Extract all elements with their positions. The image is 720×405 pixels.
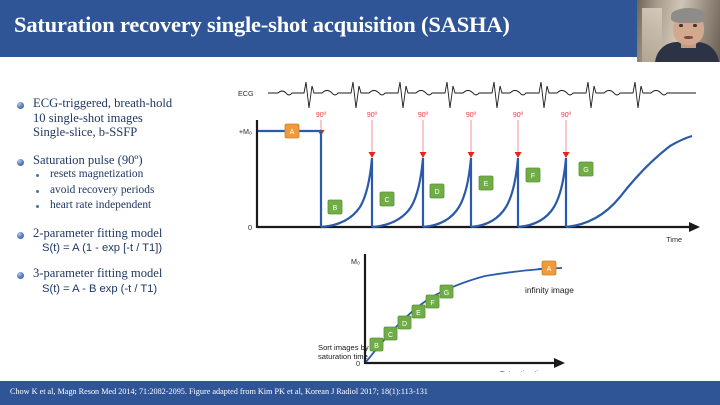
bullet-line: 10 single-shot images	[33, 111, 172, 126]
webcam-person-hair	[671, 8, 706, 23]
bottom-point-label-E: E	[416, 310, 421, 317]
ecg-label: ECG	[238, 89, 254, 98]
webcam-person-eye-right	[693, 24, 697, 27]
pulse-label-5: 90º	[513, 112, 524, 119]
bullet-item-two-parameter-model: 2-parameter fitting model	[12, 226, 227, 241]
main-y-top-label: +M₀	[239, 127, 252, 136]
pulse-label-3: 90º	[418, 112, 429, 119]
presenter-webcam-thumbnail[interactable]	[637, 0, 720, 62]
bullet-line: Single-slice, b-SSFP	[33, 125, 172, 140]
sub-bullet-resets-magnetization: resets magnetization	[36, 167, 227, 183]
infinity-image-annotation: infinity image	[525, 285, 574, 295]
webcam-person-mouth	[684, 36, 693, 39]
bottom-point-label-D: D	[402, 321, 407, 328]
bullet-sphere-icon	[17, 159, 24, 166]
bullet-line: ECG-triggered, breath-hold	[33, 96, 172, 111]
main-y-zero-label: 0	[248, 223, 252, 232]
bullet-list: ECG-triggered, breath-hold 10 single-sho…	[12, 96, 227, 297]
footer-citation: Chow K et al, Magn Reson Med 2014; 71:20…	[10, 387, 428, 396]
saturation-pulse-group: 90º 90º 90º 90º 90º 90º	[316, 112, 572, 158]
bottom-point-label-C: C	[388, 332, 393, 339]
bottom-point-label-G: G	[444, 290, 449, 297]
sub-bullet-label: resets magnetization	[50, 167, 143, 183]
slide-root: Saturation recovery single-shot acquisit…	[0, 0, 720, 405]
equation-two-parameter: S(t) = A (1 - exp [-t / T1])	[42, 240, 227, 256]
bullet-sphere-icon	[17, 272, 24, 279]
pulse-label-2: 90º	[367, 112, 378, 119]
sub-bullet-label: heart rate independent	[50, 198, 151, 214]
spacer	[12, 214, 227, 226]
page-title: Saturation recovery single-shot acquisit…	[14, 12, 624, 38]
bullet-item-saturation-pulse: Saturation pulse (90º)	[12, 153, 227, 168]
image-box-A-label: A	[290, 129, 295, 136]
bullet-item-acquisition: ECG-triggered, breath-hold 10 single-sho…	[12, 96, 227, 140]
image-box-G-label: G	[583, 167, 588, 174]
image-box-F-label: F	[531, 173, 535, 180]
ecg-waveform	[268, 82, 696, 108]
sub-bullet-dot-icon	[36, 190, 39, 193]
bottom-plot: M₀ 0 Saturation time Sort images by satu…	[318, 254, 574, 372]
sub-bullet-dot-icon	[36, 205, 39, 208]
sub-bullet-avoid-recovery-periods: avoid recovery periods	[36, 183, 227, 199]
bottom-point-label-F: F	[430, 300, 434, 307]
sort-note-line-1: Sort images by	[318, 343, 369, 352]
main-x-label: Time	[666, 235, 682, 244]
equation-three-parameter: S(t) = A - B exp (-t / T1)	[42, 281, 227, 297]
bottom-x-label: Saturation time	[500, 369, 548, 372]
pulse-label-6: 90º	[561, 112, 572, 119]
image-box-E-label: E	[484, 181, 489, 188]
bullet-sphere-icon	[17, 102, 24, 109]
sub-bullet-dot-icon	[36, 174, 39, 177]
magnetization-curve	[258, 131, 692, 227]
bullet-line: 3-parameter fitting model	[33, 266, 162, 281]
bottom-point-label-A: A	[547, 266, 552, 273]
sub-bullet-label: avoid recovery periods	[50, 183, 154, 199]
spacer	[12, 256, 227, 266]
sub-bullet-heart-rate-independent: heart rate independent	[36, 198, 227, 214]
bottom-y-label: M₀	[351, 257, 360, 266]
webcam-person-eye-left	[679, 24, 683, 27]
image-box-D-label: D	[434, 189, 439, 196]
bottom-point-label-B: B	[374, 343, 379, 350]
pulse-label-1: 90º	[316, 112, 327, 119]
image-box-B-label: B	[333, 205, 338, 212]
bullet-line: 2-parameter fitting model	[33, 226, 162, 241]
figure-sasha-diagram: ECG 90º 90º 90º 90º 90º	[230, 62, 720, 372]
image-box-C-label: C	[384, 197, 389, 204]
main-plot-image-labels: A B C D E F G	[285, 124, 593, 214]
bullet-item-three-parameter-model: 3-parameter fitting model	[12, 266, 227, 281]
bottom-recovery-curve	[366, 269, 542, 362]
spacer	[12, 140, 227, 153]
sort-note-line-2: saturation time	[318, 352, 368, 361]
bullet-sphere-icon	[17, 232, 24, 239]
pulse-label-4: 90º	[466, 112, 477, 119]
bullet-line: Saturation pulse (90º)	[33, 153, 143, 168]
main-plot-axes: +M₀ 0 Time	[239, 120, 700, 244]
